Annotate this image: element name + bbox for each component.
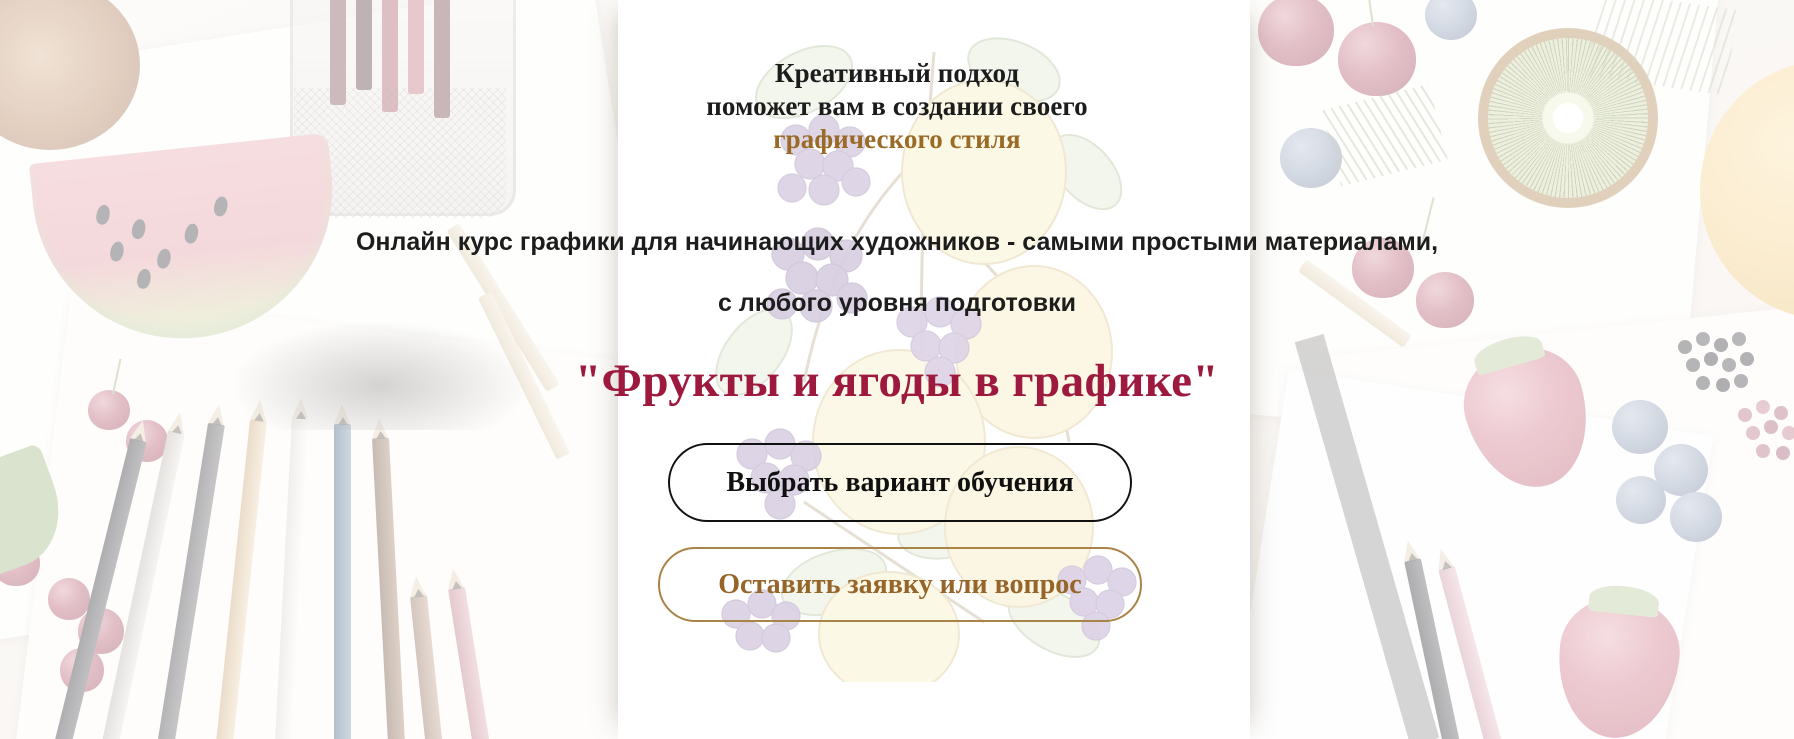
hero-section: Креативный подход поможет вам в создании… bbox=[0, 0, 1794, 739]
page-headline: Креативный подход поможет вам в создании… bbox=[0, 57, 1794, 156]
choose-learning-option-button[interactable]: Выбрать вариант обучения bbox=[668, 443, 1132, 522]
hero-subtitle-line-2: с любого уровня подготовки bbox=[0, 286, 1794, 320]
headline-line-3-accent: графического стиля bbox=[0, 123, 1794, 156]
leave-request-or-question-button[interactable]: Оставить заявку или вопрос bbox=[658, 547, 1142, 622]
headline-line-2: поможет вам в создании своего bbox=[0, 90, 1794, 123]
hero-content: Креативный подход поможет вам в создании… bbox=[0, 0, 1794, 739]
course-title: "Фрукты и ягоды в графике" bbox=[0, 352, 1794, 410]
hero-subtitle-line-1: Онлайн курс графики для начинающих худож… bbox=[0, 225, 1794, 259]
headline-line-1: Креативный подход bbox=[0, 57, 1794, 90]
